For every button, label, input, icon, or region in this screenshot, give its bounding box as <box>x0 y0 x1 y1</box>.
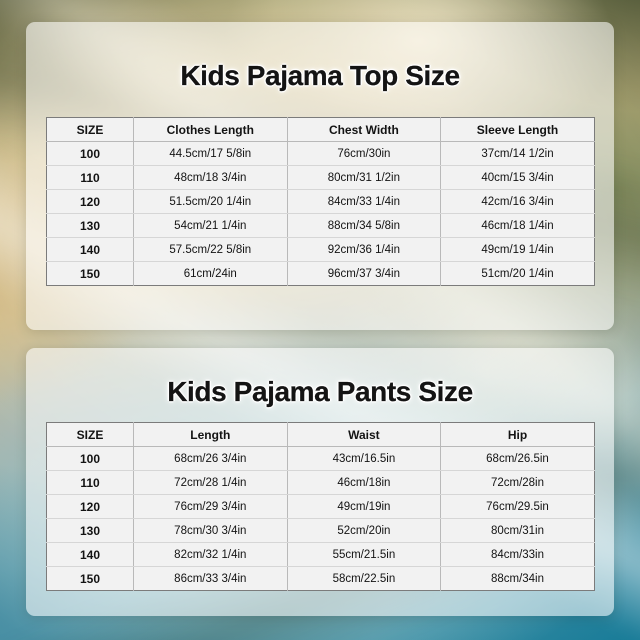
column-header-waist: Waist <box>287 423 441 447</box>
column-header-hip: Hip <box>441 423 595 447</box>
cell-length: 76cm/29 3/4in <box>134 495 288 519</box>
column-header-length: Length <box>134 423 288 447</box>
cell-size: 110 <box>47 471 134 495</box>
table-row: 150 61cm/24in 96cm/37 3/4in 51cm/20 1/4i… <box>47 262 595 286</box>
cell-clothes-length: 44.5cm/17 5/8in <box>134 142 288 166</box>
column-header-length: Clothes Length <box>134 118 288 142</box>
cell-waist: 55cm/21.5in <box>287 543 441 567</box>
table-row: 110 72cm/28 1/4in 46cm/18in 72cm/28in <box>47 471 595 495</box>
cell-length: 86cm/33 3/4in <box>134 567 288 591</box>
cell-sleeve-length: 46cm/18 1/4in <box>441 214 595 238</box>
table-header-row: SIZE Length Waist Hip <box>47 423 595 447</box>
cell-size: 140 <box>47 543 134 567</box>
cell-size: 120 <box>47 495 134 519</box>
cell-length: 82cm/32 1/4in <box>134 543 288 567</box>
cell-chest-width: 76cm/30in <box>287 142 441 166</box>
page-title-bottom: Kids Pajama Pants Size <box>26 348 614 408</box>
size-card-top: Kids Pajama Top Size SIZE Clothes Length… <box>26 22 614 330</box>
column-header-size: SIZE <box>47 118 134 142</box>
table-header-row: SIZE Clothes Length Chest Width Sleeve L… <box>47 118 595 142</box>
table-row: 130 78cm/30 3/4in 52cm/20in 80cm/31in <box>47 519 595 543</box>
cell-size: 100 <box>47 142 134 166</box>
page-title-top: Kids Pajama Top Size <box>26 22 614 92</box>
cell-clothes-length: 57.5cm/22 5/8in <box>134 238 288 262</box>
cell-hip: 76cm/29.5in <box>441 495 595 519</box>
cell-size: 100 <box>47 447 134 471</box>
cell-waist: 43cm/16.5in <box>287 447 441 471</box>
size-table-top: SIZE Clothes Length Chest Width Sleeve L… <box>46 117 595 286</box>
table-row: 150 86cm/33 3/4in 58cm/22.5in 88cm/34in <box>47 567 595 591</box>
cell-waist: 49cm/19in <box>287 495 441 519</box>
cell-sleeve-length: 42cm/16 3/4in <box>441 190 595 214</box>
cell-size: 110 <box>47 166 134 190</box>
cell-waist: 46cm/18in <box>287 471 441 495</box>
cell-length: 72cm/28 1/4in <box>134 471 288 495</box>
cell-size: 150 <box>47 567 134 591</box>
cell-sleeve-length: 40cm/15 3/4in <box>441 166 595 190</box>
cell-hip: 84cm/33in <box>441 543 595 567</box>
cell-sleeve-length: 49cm/19 1/4in <box>441 238 595 262</box>
cell-hip: 68cm/26.5in <box>441 447 595 471</box>
cell-chest-width: 92cm/36 1/4in <box>287 238 441 262</box>
cell-hip: 80cm/31in <box>441 519 595 543</box>
cell-chest-width: 80cm/31 1/2in <box>287 166 441 190</box>
cell-clothes-length: 48cm/18 3/4in <box>134 166 288 190</box>
cell-hip: 72cm/28in <box>441 471 595 495</box>
table-row: 120 51.5cm/20 1/4in 84cm/33 1/4in 42cm/1… <box>47 190 595 214</box>
table-row: 130 54cm/21 1/4in 88cm/34 5/8in 46cm/18 … <box>47 214 595 238</box>
table-row: 100 68cm/26 3/4in 43cm/16.5in 68cm/26.5i… <box>47 447 595 471</box>
column-header-size: SIZE <box>47 423 134 447</box>
cell-waist: 58cm/22.5in <box>287 567 441 591</box>
cell-size: 130 <box>47 519 134 543</box>
size-table-bottom: SIZE Length Waist Hip 100 68cm/26 3/4in … <box>46 422 595 591</box>
cell-chest-width: 96cm/37 3/4in <box>287 262 441 286</box>
table-row: 140 82cm/32 1/4in 55cm/21.5in 84cm/33in <box>47 543 595 567</box>
table-row: 120 76cm/29 3/4in 49cm/19in 76cm/29.5in <box>47 495 595 519</box>
cell-size: 130 <box>47 214 134 238</box>
cell-chest-width: 88cm/34 5/8in <box>287 214 441 238</box>
cell-clothes-length: 61cm/24in <box>134 262 288 286</box>
column-header-sleeve: Sleeve Length <box>441 118 595 142</box>
cell-sleeve-length: 51cm/20 1/4in <box>441 262 595 286</box>
table-row: 110 48cm/18 3/4in 80cm/31 1/2in 40cm/15 … <box>47 166 595 190</box>
cell-size: 140 <box>47 238 134 262</box>
cell-hip: 88cm/34in <box>441 567 595 591</box>
cell-size: 150 <box>47 262 134 286</box>
cell-chest-width: 84cm/33 1/4in <box>287 190 441 214</box>
cell-clothes-length: 51.5cm/20 1/4in <box>134 190 288 214</box>
cell-length: 68cm/26 3/4in <box>134 447 288 471</box>
cell-clothes-length: 54cm/21 1/4in <box>134 214 288 238</box>
table-row: 100 44.5cm/17 5/8in 76cm/30in 37cm/14 1/… <box>47 142 595 166</box>
table-row: 140 57.5cm/22 5/8in 92cm/36 1/4in 49cm/1… <box>47 238 595 262</box>
cell-sleeve-length: 37cm/14 1/2in <box>441 142 595 166</box>
column-header-chest: Chest Width <box>287 118 441 142</box>
cell-length: 78cm/30 3/4in <box>134 519 288 543</box>
size-card-bottom: Kids Pajama Pants Size SIZE Length Waist… <box>26 348 614 616</box>
cell-size: 120 <box>47 190 134 214</box>
cell-waist: 52cm/20in <box>287 519 441 543</box>
